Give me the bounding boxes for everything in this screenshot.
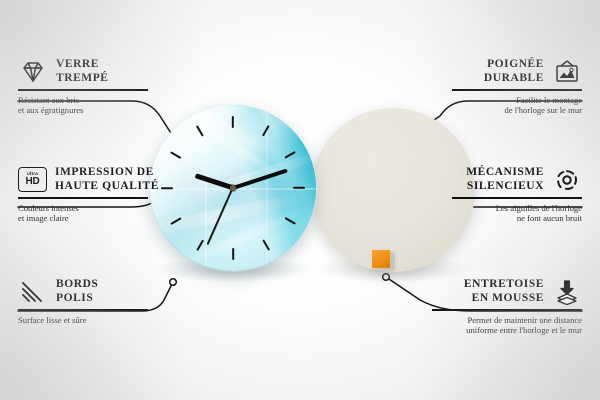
feature-header: POIGNÉE DURABLE [432, 58, 582, 85]
feature-header: VERRE TREMPÉ [18, 58, 168, 85]
foam-spacer-icon [552, 279, 582, 305]
feature-title: POIGNÉE DURABLE [484, 58, 544, 85]
feature-rule [18, 89, 148, 91]
ultra-hd-icon-main-label: HD [25, 177, 39, 187]
feature-title: VERRE TREMPÉ [56, 58, 109, 85]
hanging-frame-icon [552, 59, 582, 85]
feature-header: ENTRETOISE EN MOUSSE [412, 278, 582, 305]
feature-description: Permet de maintenir une distance uniform… [412, 315, 582, 336]
feature-title: BORDS POLIS [56, 278, 98, 305]
feature-rule [452, 89, 582, 91]
feature-poignee-durable: POIGNÉE DURABLE Facilite le montage de l… [432, 58, 582, 116]
feature-header: ultra HD IMPRESSION DE HAUTE QUALITÉ [18, 166, 168, 193]
polished-edge-icon [18, 280, 48, 304]
feature-description: Les aiguilles de l'horloge ne font aucun… [432, 203, 582, 224]
feature-title: IMPRESSION DE HAUTE QUALITÉ [55, 166, 159, 193]
feature-header: MÉCANISME SILENCIEUX [432, 166, 582, 193]
feature-description: Résistant aux bris et aux égratignures [18, 95, 168, 116]
feature-title: ENTRETOISE EN MOUSSE [464, 278, 544, 305]
feature-description: Couleurs intenses et image claire [18, 203, 168, 224]
ultra-hd-icon: ultra HD [18, 167, 47, 192]
hour-marker [232, 248, 234, 260]
infographic-canvas: VERRE TREMPÉ Résistant aux bris et aux é… [0, 0, 600, 400]
connector-endpoint [170, 279, 177, 286]
feature-rule [432, 309, 582, 311]
diamond-icon [18, 60, 48, 84]
feature-description: Facilite le montage de l'horloge sur le … [432, 95, 582, 116]
feature-header: BORDS POLIS [18, 278, 168, 305]
feature-mecanisme-silencieux: MÉCANISME SILENCIEUX Les aiguilles de l'… [432, 166, 582, 224]
hand-center-cap [230, 185, 236, 191]
feature-entretoise-en-mousse: ENTRETOISE EN MOUSSE Permet de maintenir… [412, 278, 582, 336]
feature-title: MÉCANISME SILENCIEUX [466, 166, 544, 193]
feature-rule [18, 309, 148, 311]
foam-spacer [372, 250, 390, 268]
feature-bords-polis: BORDS POLIS Surface lisse et sûre [18, 278, 168, 325]
feature-rule [18, 197, 148, 199]
gear-icon [552, 167, 582, 193]
feature-impression-haute-qualite: ultra HD IMPRESSION DE HAUTE QUALITÉ Cou… [18, 166, 168, 224]
feature-verre-trempe: VERRE TREMPÉ Résistant aux bris et aux é… [18, 58, 168, 116]
wall-clock [150, 105, 316, 271]
feature-description: Surface lisse et sûre [18, 315, 168, 326]
feature-rule [452, 197, 582, 199]
